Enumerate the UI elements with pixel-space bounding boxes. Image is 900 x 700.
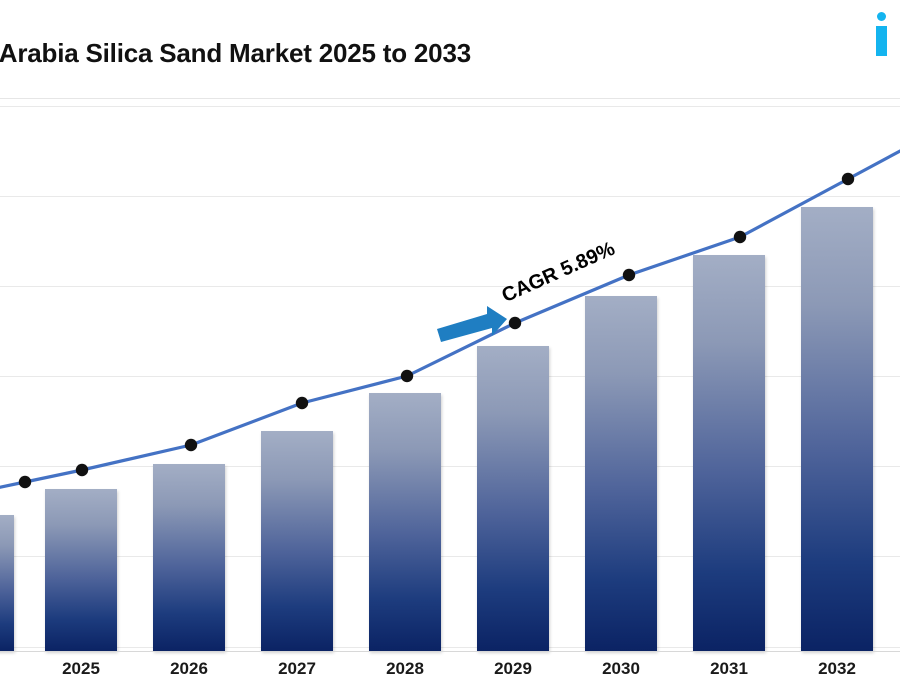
trend-line-series <box>0 99 900 651</box>
chart-page: di Arabia Silica Sand Market 2025 to 203… <box>0 0 900 700</box>
line-marker-2027[interactable] <box>296 397 308 409</box>
cagr-arrow-icon <box>437 306 507 342</box>
trend-line-path <box>0 146 900 490</box>
x-tick-2032: 2032 <box>797 659 877 679</box>
line-marker-2032[interactable] <box>842 173 854 185</box>
x-axis-tick-labels: 20252026202720282029203020312032 <box>0 651 900 700</box>
logo-stem-icon <box>876 26 887 56</box>
x-tick-2028: 2028 <box>365 659 445 679</box>
bar-2031[interactable] <box>693 255 765 651</box>
x-tick-2030: 2030 <box>581 659 661 679</box>
x-tick-2026: 2026 <box>149 659 229 679</box>
plot-area: CAGR 5.89% <box>0 99 900 651</box>
logo-dot-icon <box>877 12 886 21</box>
gridline-1 <box>0 196 900 197</box>
bar-2027[interactable] <box>261 431 333 651</box>
x-tick-2031: 2031 <box>689 659 769 679</box>
x-tick-2029: 2029 <box>473 659 553 679</box>
line-marker-2031[interactable] <box>734 231 746 243</box>
gridline-5 <box>0 556 900 557</box>
line-marker-2030[interactable] <box>623 269 635 281</box>
bar-2026[interactable] <box>153 464 225 651</box>
line-marker-2029[interactable] <box>509 317 521 329</box>
gridline-0 <box>0 106 900 107</box>
gridline-4 <box>0 466 900 467</box>
brand-logo-icon <box>874 8 900 64</box>
line-marker-2026[interactable] <box>185 439 197 451</box>
gridline-3 <box>0 376 900 377</box>
bar-2028[interactable] <box>369 393 441 651</box>
bar-2030[interactable] <box>585 296 657 651</box>
gridline-2 <box>0 286 900 287</box>
bar-2032[interactable] <box>801 207 873 651</box>
bar-2025[interactable] <box>45 489 117 651</box>
x-tick-2025: 2025 <box>41 659 121 679</box>
line-marker-2024[interactable] <box>19 476 31 488</box>
bar-2024[interactable] <box>0 515 14 651</box>
chart-header: di Arabia Silica Sand Market 2025 to 203… <box>0 0 900 99</box>
gridline-6 <box>0 647 900 648</box>
x-tick-2027: 2027 <box>257 659 337 679</box>
page-title: di Arabia Silica Sand Market 2025 to 203… <box>0 38 790 69</box>
bar-2029[interactable] <box>477 346 549 651</box>
